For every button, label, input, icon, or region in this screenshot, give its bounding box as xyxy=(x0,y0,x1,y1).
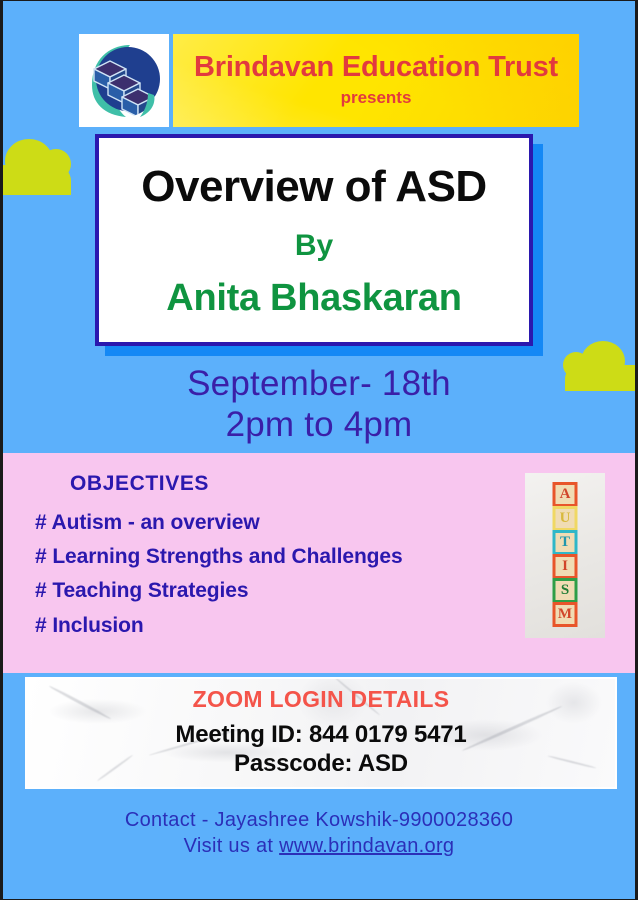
alphabet-block: A xyxy=(553,482,578,507)
objectives-section: OBJECTIVES # Autism - an overview # Lear… xyxy=(35,472,505,643)
page-title: Overview of ASD xyxy=(141,165,486,209)
footer-contact: Contact - Jayashree Kowshik-9900028360 V… xyxy=(3,807,635,859)
poster-header: Brindavan Education Trust presents xyxy=(79,34,579,127)
presents-text: presents xyxy=(341,89,412,106)
autism-blocks-photo: AUTISM xyxy=(525,473,605,638)
event-time: 2pm to 4pm xyxy=(3,404,635,445)
speaker-name: Anita Bhaskaran xyxy=(166,279,461,317)
alphabet-block: T xyxy=(553,530,578,555)
alphabet-block: S xyxy=(553,578,578,603)
alphabet-block: M xyxy=(553,602,578,627)
contact-line: Contact - Jayashree Kowshik-9900028360 xyxy=(3,807,635,833)
marble-texture xyxy=(48,685,111,721)
alphabet-block: U xyxy=(553,506,578,531)
alphabet-block: I xyxy=(553,554,578,579)
visit-label: Visit us at xyxy=(184,835,280,857)
objectives-heading: OBJECTIVES xyxy=(70,472,505,496)
objective-item: # Learning Strengths and Challenges xyxy=(35,540,505,574)
marble-texture xyxy=(97,754,134,781)
objective-item: # Inclusion xyxy=(35,609,505,643)
website-link[interactable]: www.brindavan.org xyxy=(279,835,454,857)
zoom-passcode: Passcode: ASD xyxy=(234,750,408,778)
event-schedule: September- 18th 2pm to 4pm xyxy=(3,363,635,446)
alphabet-block-stack: AUTISM xyxy=(553,482,578,626)
objective-item: # Teaching Strategies xyxy=(35,574,505,608)
title-card: Overview of ASD By Anita Bhaskaran xyxy=(95,134,533,346)
marble-texture xyxy=(548,755,597,769)
by-label: By xyxy=(295,231,333,261)
event-poster: Brindavan Education Trust presents Overv… xyxy=(0,0,638,900)
organization-logo xyxy=(79,34,169,127)
zoom-login-card: ZOOM LOGIN DETAILS Meeting ID: 844 0179 … xyxy=(25,677,617,789)
zoom-login-heading: ZOOM LOGIN DETAILS xyxy=(193,688,450,711)
marble-texture xyxy=(461,705,563,752)
brindavan-trust-logo-icon xyxy=(82,39,166,123)
trust-name-banner: Brindavan Education Trust presents xyxy=(173,34,579,127)
objective-item: # Autism - an overview xyxy=(35,506,505,540)
event-date: September- 18th xyxy=(3,363,635,404)
cloud-decoration-left xyxy=(0,165,71,195)
website-line: Visit us at www.brindavan.org xyxy=(3,833,635,859)
zoom-meeting-id: Meeting ID: 844 0179 5471 xyxy=(175,721,466,749)
trust-name-text: Brindavan Education Trust xyxy=(194,53,558,83)
